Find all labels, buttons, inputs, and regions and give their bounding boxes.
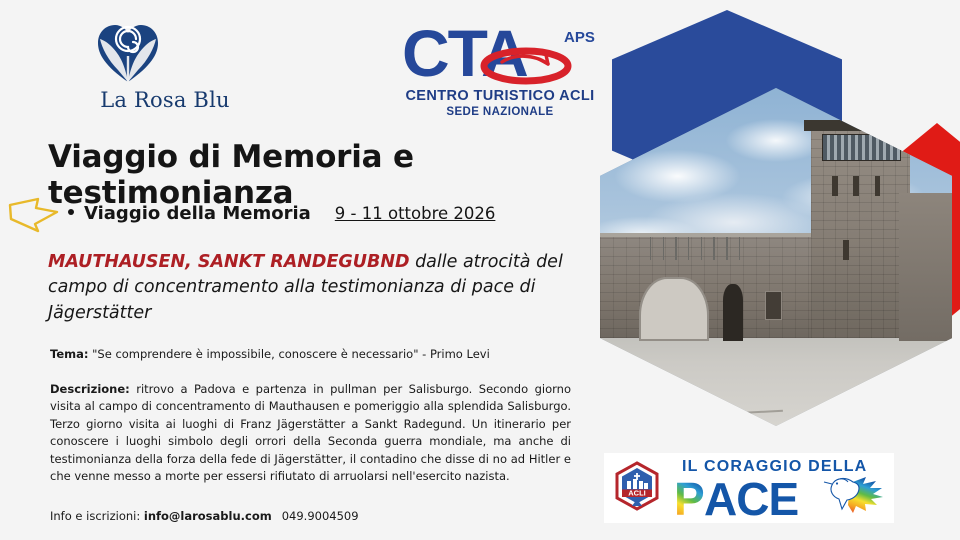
- cta-logo: CTA APS CENTRO TURISTICO ACLI SEDE NAZIO…: [402, 18, 598, 126]
- descrizione-paragraph: Descrizione: ritrovo a Padova e partenza…: [50, 381, 571, 486]
- descrizione-label: Descrizione:: [50, 382, 130, 396]
- photo-tower-wing: [899, 193, 952, 342]
- contact-email[interactable]: info@larosablu.com: [144, 509, 272, 523]
- trip-label: Viaggio della Memoria: [84, 203, 311, 224]
- acli-badge-icon: ACLI: [617, 463, 657, 509]
- larosablu-wordmark: La Rosa Blu: [40, 88, 290, 112]
- cta-subtitle-line1: CENTRO TURISTICO ACLI: [402, 88, 598, 104]
- cta-subtitle-line2: SEDE NAZIONALE: [402, 106, 598, 118]
- svg-text:ACLI: ACLI: [628, 489, 646, 498]
- page-title: Viaggio di Memoria e testimonianza: [48, 140, 608, 211]
- photo-window-left: [765, 291, 781, 320]
- larosablu-logo: La Rosa Blu: [40, 22, 290, 122]
- tema-label: Tema:: [50, 347, 88, 361]
- contact-label: Info e iscrizioni:: [50, 509, 140, 523]
- photo-tower-roof: [804, 120, 917, 131]
- gold-arrow-right-icon: [8, 193, 60, 233]
- pace-letter-p: P: [674, 473, 705, 523]
- poster-canvas: La Rosa Blu CTA APS CENTRO TURISTICO ACL…: [0, 0, 960, 540]
- graphic-cluster: [590, 0, 960, 440]
- bullet-dot-icon: [68, 209, 74, 215]
- contact-line: Info e iscrizioni: info@larosablu.com049…: [50, 509, 359, 523]
- descrizione-text: ritrovo a Padova e partenza in pullman p…: [50, 382, 571, 483]
- contact-phone: 049.9004509: [282, 509, 359, 523]
- trip-date: 9 - 11 ottobre 2026: [335, 204, 496, 223]
- pace-letters-ace: ACE: [704, 473, 798, 523]
- photo-gate-arch: [639, 277, 709, 341]
- cta-acronym-icon: CTA APS: [402, 18, 598, 90]
- tema-line: Tema: "Se comprendere è impossibile, con…: [50, 346, 578, 362]
- blue-rose-heart-icon: [95, 22, 161, 84]
- coraggio-della-pace-logo: ACLI IL CORAGGIO DELLA P ACE: [604, 453, 894, 523]
- photo-doorway: [723, 284, 742, 341]
- lead-highlight: MAUTHAUSEN, SANKT RANDEGUBND: [48, 252, 410, 272]
- lead-paragraph: MAUTHAUSEN, SANKT RANDEGUBND dalle atroc…: [48, 250, 576, 326]
- photo-tower-windows: [822, 134, 901, 161]
- memoria-bullet-row: Viaggio della Memoria 9 - 11 ottobre 202…: [68, 203, 495, 224]
- photo-fence-posts: [646, 237, 752, 261]
- tema-text: "Se comprendere è impossibile, conoscere…: [88, 347, 489, 361]
- svg-text:APS: APS: [564, 29, 595, 46]
